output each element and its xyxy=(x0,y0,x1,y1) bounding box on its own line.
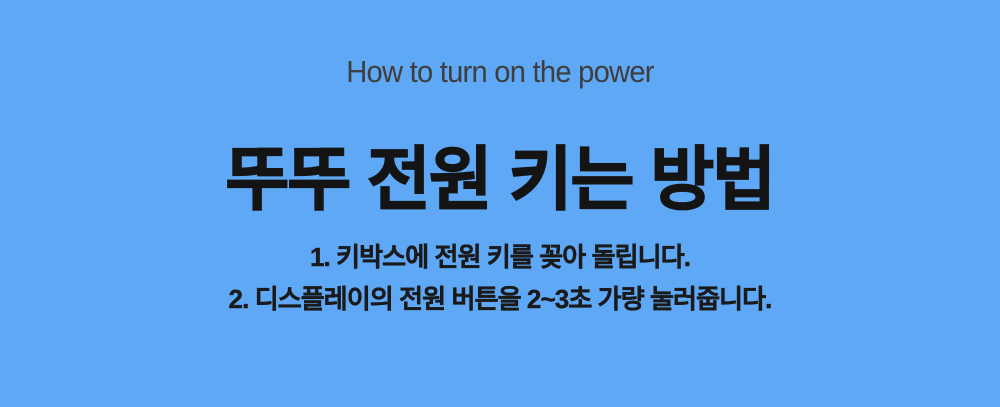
instruction-slide: How to turn on the power 뚜뚜 전원 키는 방법 1. … xyxy=(0,0,1000,407)
slide-headline: 뚜뚜 전원 키는 방법 xyxy=(0,140,1000,220)
instruction-steps-list: 1. 키박스에 전원 키를 꽂아 돌립니다. 2. 디스플레이의 전원 버튼을 … xyxy=(0,236,1000,320)
instruction-step-2: 2. 디스플레이의 전원 버튼을 2~3초 가량 눌러줍니다. xyxy=(0,278,1000,320)
instruction-step-1: 1. 키박스에 전원 키를 꽂아 돌립니다. xyxy=(0,236,1000,278)
slide-subtitle: How to turn on the power xyxy=(30,54,970,90)
